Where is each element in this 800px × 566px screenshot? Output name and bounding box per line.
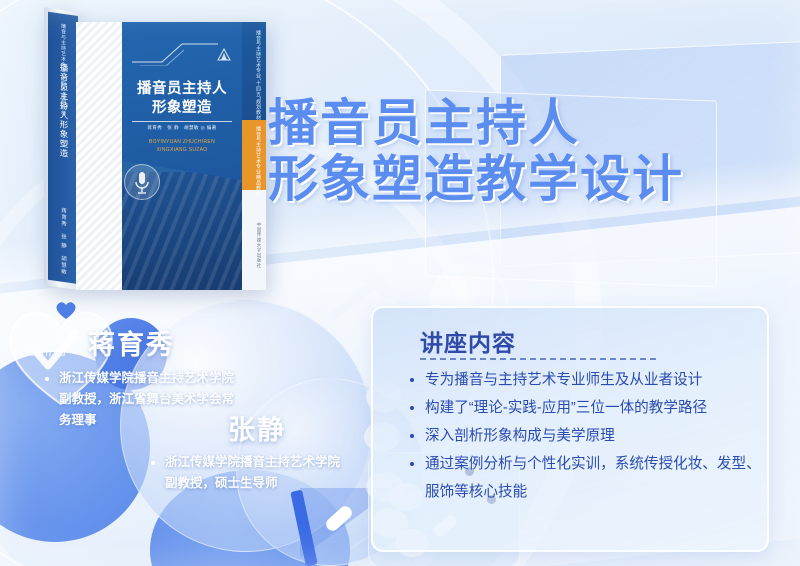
book-front-face: 播音员主持人 形象塑造 蒋育秀 张 静 胡慧敏 ◎ 编著 BOYINYUAN Z… (76, 22, 266, 290)
book-cover-pinyin-line1: BOYINYUAN ZHUCHIREN (149, 139, 215, 145)
page-title: 播音员主持人 形象塑造教学设计 (268, 95, 788, 207)
book-cover-publisher: 中国传媒大学出版社 (246, 222, 262, 268)
book-cover-authors: 蒋育秀 张 静 胡慧敏 ◎ 编著 (128, 125, 236, 131)
page-title-line1: 播音员主持人 (268, 95, 580, 151)
book-cover-series-top: 播音与主持艺术专业“十四五”规划教材 (246, 30, 262, 121)
book-spine-authors: 蒋育秀 张 静 胡慧敏 (53, 206, 67, 275)
book-cover-title-line1: 播音员主持人 (137, 81, 227, 97)
book-cover-title: 播音员主持人 形象塑造 (128, 80, 236, 118)
book-cover-series-side: 播音与主持艺术专业精品教材 (246, 126, 262, 196)
panel-divider (420, 358, 656, 360)
page-title-line2: 形象塑造教学设计 (268, 151, 788, 207)
book-spine-title: 播音员主持人形象塑造 (52, 61, 70, 159)
microphone-icon (124, 164, 160, 200)
book-cover-texture-panel (76, 22, 122, 290)
book-cover: 播音与主持艺术专业“十四五”规划教材 播音员主持人形象塑造 蒋育秀 张 静 胡慧… (44, 12, 266, 290)
list-item: 专为播音与主持艺术专业师生及从业者设计 (425, 366, 765, 394)
list-item: 深入剖析形象构成与美学原理 (425, 422, 765, 450)
publisher-logo-icon (217, 48, 231, 61)
poster-canvas: Canva 播音与主持艺术专业“十四五”规划教材 播音员主持人形象塑造 蒋育秀 … (0, 0, 800, 566)
heart-small-icon (55, 300, 77, 320)
presenter-bio-2-item: 浙江传媒学院播音主持艺术学院副教授，硕士生导师 (165, 452, 342, 494)
list-item: 构建了“理论-实践-应用”三位一体的教学路径 (425, 394, 765, 422)
presenter-bio-1: 浙江传媒学院播音主持艺术学院副教授，浙江省舞台美术学会常务理事 (46, 368, 236, 431)
presenter-name-1: 蒋育秀 (88, 323, 175, 362)
lecture-content-panel: 讲座内容 专为播音与主持艺术专业师生及从业者设计 构建了“理论-实践-应用”三位… (371, 306, 769, 552)
book-cover-pinyin-line2: XINGXIANG SUZAO (157, 147, 208, 153)
presenter-name-2: 张静 (228, 408, 286, 447)
book-cover-pinyin: BOYINYUAN ZHUCHIREN XINGXIANG SUZAO (128, 138, 236, 154)
panel-item-list: 专为播音与主持艺术专业师生及从业者设计 构建了“理论-实践-应用”三位一体的教学… (409, 366, 765, 506)
panel-title: 讲座内容 (420, 324, 516, 358)
book-cover-line-decor (132, 40, 220, 66)
canva-watermark: Canva (28, 344, 67, 360)
presenter-bio-1-item: 浙江传媒学院播音主持艺术学院副教授，浙江省舞台美术学会常务理事 (59, 368, 236, 431)
presenter-bio-2: 浙江传媒学院播音主持艺术学院副教授，硕士生导师 (152, 452, 342, 494)
list-item: 通过案例分析与个性化实训，系统传授化妆、发型、服饰等核心技能 (425, 450, 765, 506)
book-cover-rule (132, 121, 232, 122)
book-cover-title-line2: 形象塑造 (152, 100, 212, 116)
